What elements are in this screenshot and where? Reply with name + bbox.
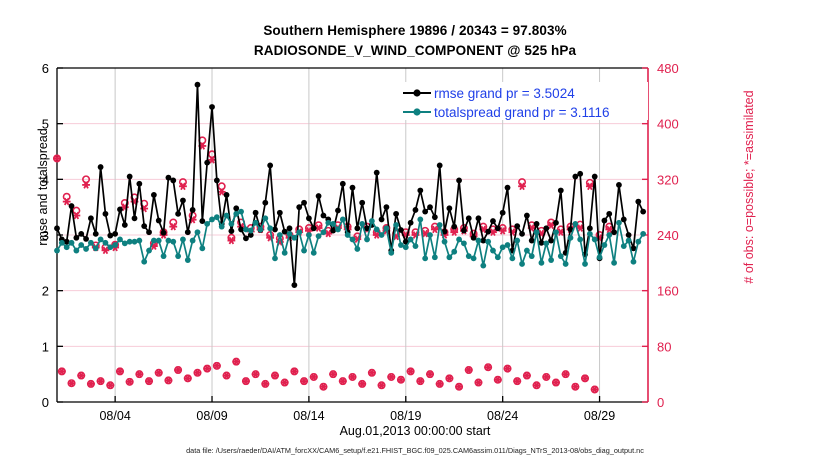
- series-point: [98, 237, 104, 243]
- series-point: [461, 240, 467, 246]
- series-point: [427, 232, 433, 238]
- series-point: [112, 231, 118, 237]
- series-point: [427, 204, 433, 210]
- tick-label-right: 480: [657, 61, 679, 76]
- series-point: [417, 217, 423, 223]
- series-point: [54, 248, 60, 254]
- series-point: [262, 200, 268, 206]
- series-point: [296, 229, 302, 235]
- series-point: [582, 261, 588, 267]
- series-point: [384, 204, 390, 210]
- series-point: [505, 185, 511, 191]
- series-point: [422, 209, 428, 215]
- series-point: [224, 192, 230, 198]
- series-point: [509, 255, 515, 261]
- series-point: [267, 225, 273, 231]
- series-point: [204, 160, 210, 166]
- series-point: [451, 249, 457, 255]
- series-point: [93, 231, 99, 237]
- series-point: [175, 211, 181, 217]
- series-point: [321, 229, 327, 235]
- series-point: [321, 213, 327, 219]
- series-point: [146, 248, 152, 254]
- series-point: [340, 181, 346, 187]
- series-point: [132, 239, 138, 245]
- series-point: [306, 232, 312, 238]
- series-point: [311, 250, 317, 256]
- series-point: [640, 231, 646, 237]
- series-point: [514, 223, 520, 229]
- series-point: [437, 222, 443, 228]
- series-point: [456, 237, 462, 243]
- series-point: [543, 240, 549, 246]
- series-point: [616, 220, 622, 226]
- series-point: [78, 242, 84, 248]
- tick-label-right: 80: [657, 339, 671, 354]
- series-point: [69, 240, 75, 246]
- series-point: [461, 228, 467, 234]
- legend-marker: [413, 108, 420, 115]
- series-point: [626, 232, 632, 238]
- series-point: [267, 163, 273, 169]
- series-point: [340, 217, 346, 223]
- series-point: [350, 237, 356, 243]
- series-point: [277, 210, 283, 216]
- series-point: [122, 222, 128, 228]
- data-file-footer: data file: /Users/raeder/DAI/ATM_forcXX/…: [0, 446, 830, 455]
- series-point: [398, 227, 404, 233]
- series-point: [141, 223, 147, 229]
- series-point: [408, 237, 414, 243]
- series-point: [199, 245, 205, 251]
- series-point: [388, 250, 394, 256]
- series-point: [442, 239, 448, 245]
- series-point: [640, 209, 646, 215]
- series-point: [73, 235, 79, 241]
- series-point: [54, 225, 60, 231]
- series-point: [185, 229, 191, 235]
- series-point: [519, 231, 525, 237]
- legend-label: rmse grand pr = 3.5024: [434, 86, 575, 101]
- series-point: [146, 229, 152, 235]
- series-point: [170, 178, 176, 184]
- tick-label-x: 08/29: [584, 409, 615, 423]
- series-point: [296, 204, 302, 210]
- series-point: [413, 243, 419, 249]
- series-point: [238, 209, 244, 215]
- series-point: [350, 185, 356, 191]
- series-point: [543, 225, 549, 231]
- tick-label-left: 0: [42, 395, 49, 410]
- series-point: [248, 228, 254, 234]
- series-point: [476, 215, 482, 221]
- series-point: [195, 229, 201, 235]
- series-point: [485, 239, 491, 245]
- series-point: [432, 254, 438, 260]
- series-point: [553, 229, 559, 235]
- series-point: [359, 200, 365, 206]
- series-point: [384, 225, 390, 231]
- series-point: [548, 238, 554, 244]
- series-point: [64, 244, 70, 250]
- series-point: [408, 220, 414, 226]
- series-point: [272, 255, 278, 261]
- chart-canvas: 012345608016024032040048008/0408/0908/14…: [0, 0, 830, 470]
- series-point: [243, 227, 249, 233]
- series-point: [219, 224, 225, 230]
- legend-marker: [413, 89, 420, 96]
- series-point: [330, 228, 336, 234]
- x-axis-caption: Aug.01,2013 00:00:00 start: [0, 424, 830, 438]
- series-point: [456, 178, 462, 184]
- series-point: [228, 228, 234, 234]
- series-point: [505, 242, 511, 248]
- obs-possible-marker: [170, 219, 176, 225]
- series-point: [379, 217, 385, 223]
- series-point: [577, 237, 583, 243]
- series-point: [156, 238, 162, 244]
- series-point: [141, 259, 147, 265]
- series-point: [78, 231, 84, 237]
- series-point: [364, 237, 370, 243]
- series-point: [287, 225, 293, 231]
- obs-possible-marker: [519, 179, 525, 185]
- series-point: [151, 192, 157, 198]
- series-point: [190, 207, 196, 213]
- tick-label-x: 08/14: [293, 409, 324, 423]
- tick-label-right: 320: [657, 172, 679, 187]
- series-point: [587, 225, 593, 231]
- series-point: [631, 259, 637, 265]
- series-point: [325, 220, 331, 226]
- series-point: [480, 263, 486, 269]
- series-point: [553, 220, 559, 226]
- series-point: [98, 164, 104, 170]
- series-point: [471, 235, 477, 241]
- series-point: [243, 235, 249, 241]
- series-point: [175, 253, 181, 259]
- series-point: [413, 207, 419, 213]
- series-point: [476, 238, 482, 244]
- series-point: [170, 239, 176, 245]
- series-point: [572, 174, 578, 180]
- series-point: [253, 210, 259, 216]
- series-point: [592, 174, 598, 180]
- series-point: [73, 248, 79, 254]
- series-point: [161, 230, 167, 236]
- series-point: [311, 225, 317, 231]
- series-point: [161, 253, 167, 259]
- series-point: [301, 248, 307, 254]
- tick-label-x: 08/24: [487, 409, 518, 423]
- obs-possible-marker: [219, 183, 225, 189]
- series-point: [587, 231, 593, 237]
- series-point: [132, 215, 138, 221]
- series-point: [621, 217, 627, 223]
- series-point: [606, 232, 612, 238]
- series-point: [495, 254, 501, 260]
- y-axis-left-label: rmse and totalspread: [36, 82, 50, 292]
- series-point: [379, 232, 385, 238]
- series-point: [166, 238, 172, 244]
- series-point: [301, 200, 307, 206]
- series-point: [529, 253, 535, 259]
- series-point: [577, 171, 583, 177]
- series-point: [635, 199, 641, 205]
- series-point: [606, 211, 612, 217]
- series-point: [524, 213, 530, 219]
- series-point: [539, 260, 545, 266]
- series-point: [519, 261, 525, 267]
- series-point: [374, 227, 380, 233]
- tick-label-x: 08/19: [390, 409, 421, 423]
- series-point: [233, 205, 239, 211]
- series-point: [335, 208, 341, 214]
- tick-label-x: 08/09: [196, 409, 227, 423]
- series-point: [69, 203, 75, 209]
- series-point: [626, 238, 632, 244]
- series-point: [262, 215, 268, 221]
- tick-label-right: 240: [657, 228, 679, 243]
- series-point: [534, 229, 540, 235]
- series-point: [127, 174, 133, 180]
- series-point: [83, 246, 89, 252]
- series-point: [568, 235, 574, 241]
- series-point: [354, 225, 360, 231]
- series-point: [204, 221, 210, 227]
- series-point: [136, 238, 142, 244]
- series-point: [316, 193, 322, 199]
- series-point: [558, 188, 564, 194]
- series-point: [291, 282, 297, 288]
- tick-label-right: 0: [657, 395, 664, 410]
- tick-label-right: 400: [657, 117, 679, 132]
- series-point: [185, 257, 191, 263]
- series-point: [117, 206, 123, 212]
- series-point: [282, 250, 288, 256]
- series-point: [214, 214, 220, 220]
- series-point: [393, 211, 399, 217]
- series-point: [180, 198, 186, 204]
- series-point: [446, 254, 452, 260]
- series-point: [635, 239, 641, 245]
- series-point: [500, 210, 506, 216]
- series-point: [437, 163, 443, 169]
- series-point: [258, 227, 264, 233]
- series-point: [59, 240, 65, 246]
- legend-label: totalspread grand pr = 3.1116: [434, 105, 610, 120]
- series-point: [330, 221, 336, 227]
- series-point: [422, 255, 428, 261]
- series-point: [514, 238, 520, 244]
- series-point: [417, 188, 423, 194]
- series-point: [277, 232, 283, 238]
- chart-page: Southern Hemisphere 19896 / 20343 = 97.8…: [0, 0, 830, 470]
- series-point: [490, 218, 496, 224]
- series-point: [393, 222, 399, 228]
- series-point: [287, 231, 293, 237]
- series-point: [136, 181, 142, 187]
- series-point: [103, 240, 109, 246]
- series-point: [602, 218, 608, 224]
- series-point: [228, 221, 234, 227]
- series-point: [611, 260, 617, 266]
- series-point: [616, 182, 622, 188]
- series-point: [374, 170, 380, 176]
- series-point: [369, 218, 375, 224]
- series-point: [495, 225, 501, 231]
- series-point: [199, 218, 205, 224]
- series-point: [156, 218, 162, 224]
- tick-label-right: 160: [657, 284, 679, 299]
- series-point: [306, 215, 312, 221]
- series-point: [359, 221, 365, 227]
- obs-possible-marker: [180, 179, 186, 185]
- series-point: [345, 232, 351, 238]
- series-point: [88, 215, 94, 221]
- series-point: [93, 245, 99, 251]
- series-point: [335, 227, 341, 233]
- y-axis-right-label: # of obs: o=possible; *=assimilated: [742, 37, 756, 337]
- series-point: [490, 248, 496, 254]
- series-point: [534, 221, 540, 227]
- series-point: [548, 257, 554, 263]
- series-point: [403, 244, 409, 250]
- series-point: [291, 235, 297, 241]
- series-point: [446, 205, 452, 211]
- series-point: [117, 237, 123, 243]
- series-point: [572, 221, 578, 227]
- series-point: [180, 237, 186, 243]
- series-point: [214, 178, 220, 184]
- series-point: [432, 214, 438, 220]
- series-point: [316, 233, 322, 239]
- series-point: [354, 246, 360, 252]
- series-point: [88, 240, 94, 246]
- series-point: [166, 175, 172, 181]
- series-point: [451, 224, 457, 230]
- series-point: [485, 229, 491, 235]
- series-point: [272, 227, 278, 233]
- series-point: [253, 220, 259, 226]
- series-point: [602, 242, 608, 248]
- series-point: [621, 243, 627, 249]
- tick-label-x: 08/04: [99, 409, 130, 423]
- series-point: [611, 229, 617, 235]
- series-point: [524, 248, 530, 254]
- series-point: [112, 242, 118, 248]
- tick-label-left: 1: [42, 339, 49, 354]
- tick-label-left: 6: [42, 61, 49, 76]
- series-point: [224, 213, 230, 219]
- series-point: [563, 261, 569, 267]
- series-point: [471, 255, 477, 261]
- series-point: [597, 254, 603, 260]
- series-point: [190, 238, 196, 244]
- series-point: [195, 82, 201, 88]
- series-point: [209, 104, 215, 110]
- series-point: [103, 211, 109, 217]
- series-point: [83, 236, 89, 242]
- series-point: [592, 237, 598, 243]
- series-point: [466, 215, 472, 221]
- series-point: [558, 253, 564, 259]
- series-point: [64, 239, 70, 245]
